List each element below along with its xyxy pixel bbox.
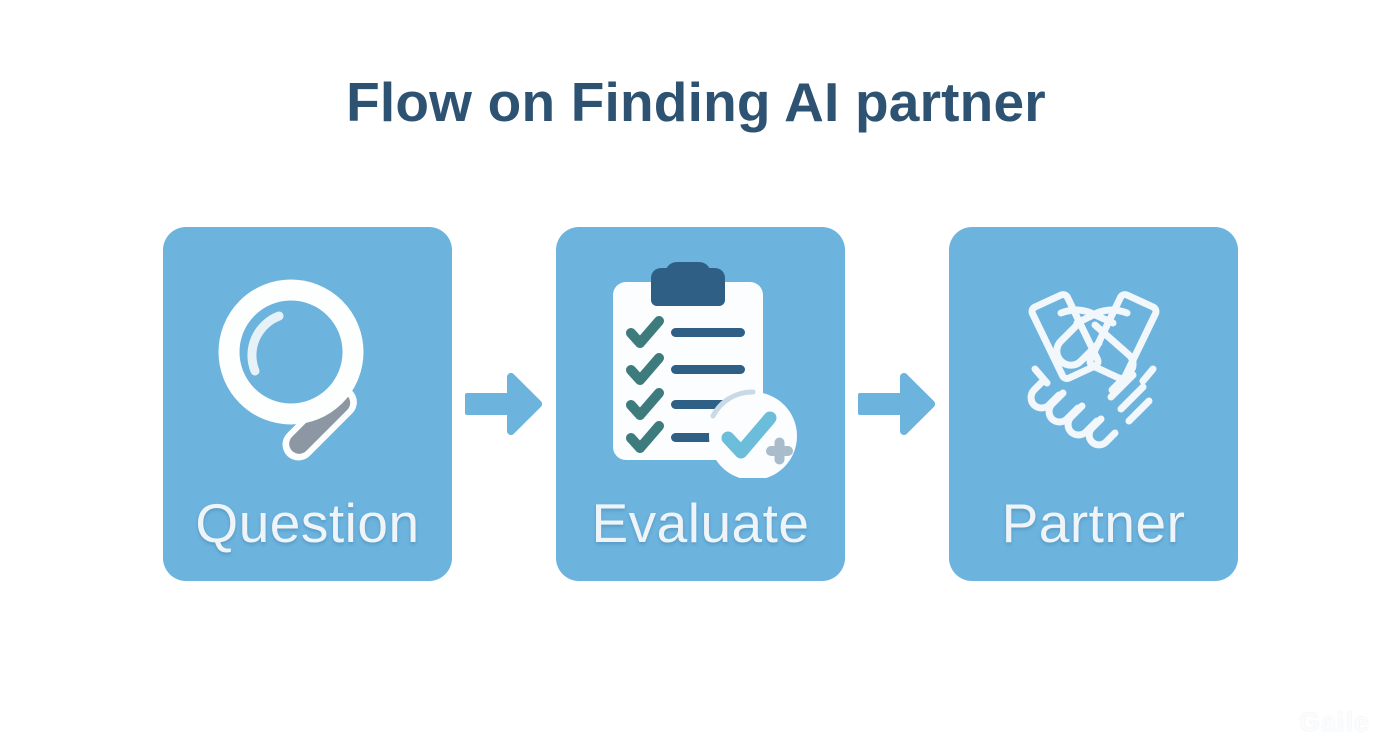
flow-step-label: Question bbox=[163, 496, 452, 551]
arrow-right-icon bbox=[857, 372, 937, 436]
flow-diagram: Question bbox=[163, 227, 1238, 581]
slide-canvas: Flow on Finding AI partner Question bbox=[0, 0, 1392, 752]
flow-step-evaluate[interactable]: Evaluate bbox=[556, 227, 845, 581]
flow-step-question[interactable]: Question bbox=[163, 227, 452, 581]
magnifier-icon bbox=[163, 251, 452, 487]
watermark: Gaile bbox=[1299, 707, 1370, 738]
page-title: Flow on Finding AI partner bbox=[0, 72, 1392, 133]
handshake-icon bbox=[949, 251, 1238, 487]
arrow-right-icon bbox=[464, 372, 544, 436]
flow-step-label: Partner bbox=[949, 496, 1238, 551]
flow-step-label: Evaluate bbox=[556, 496, 845, 551]
flow-step-partner[interactable]: Partner bbox=[949, 227, 1238, 581]
clipboard-checklist-icon bbox=[556, 251, 845, 487]
